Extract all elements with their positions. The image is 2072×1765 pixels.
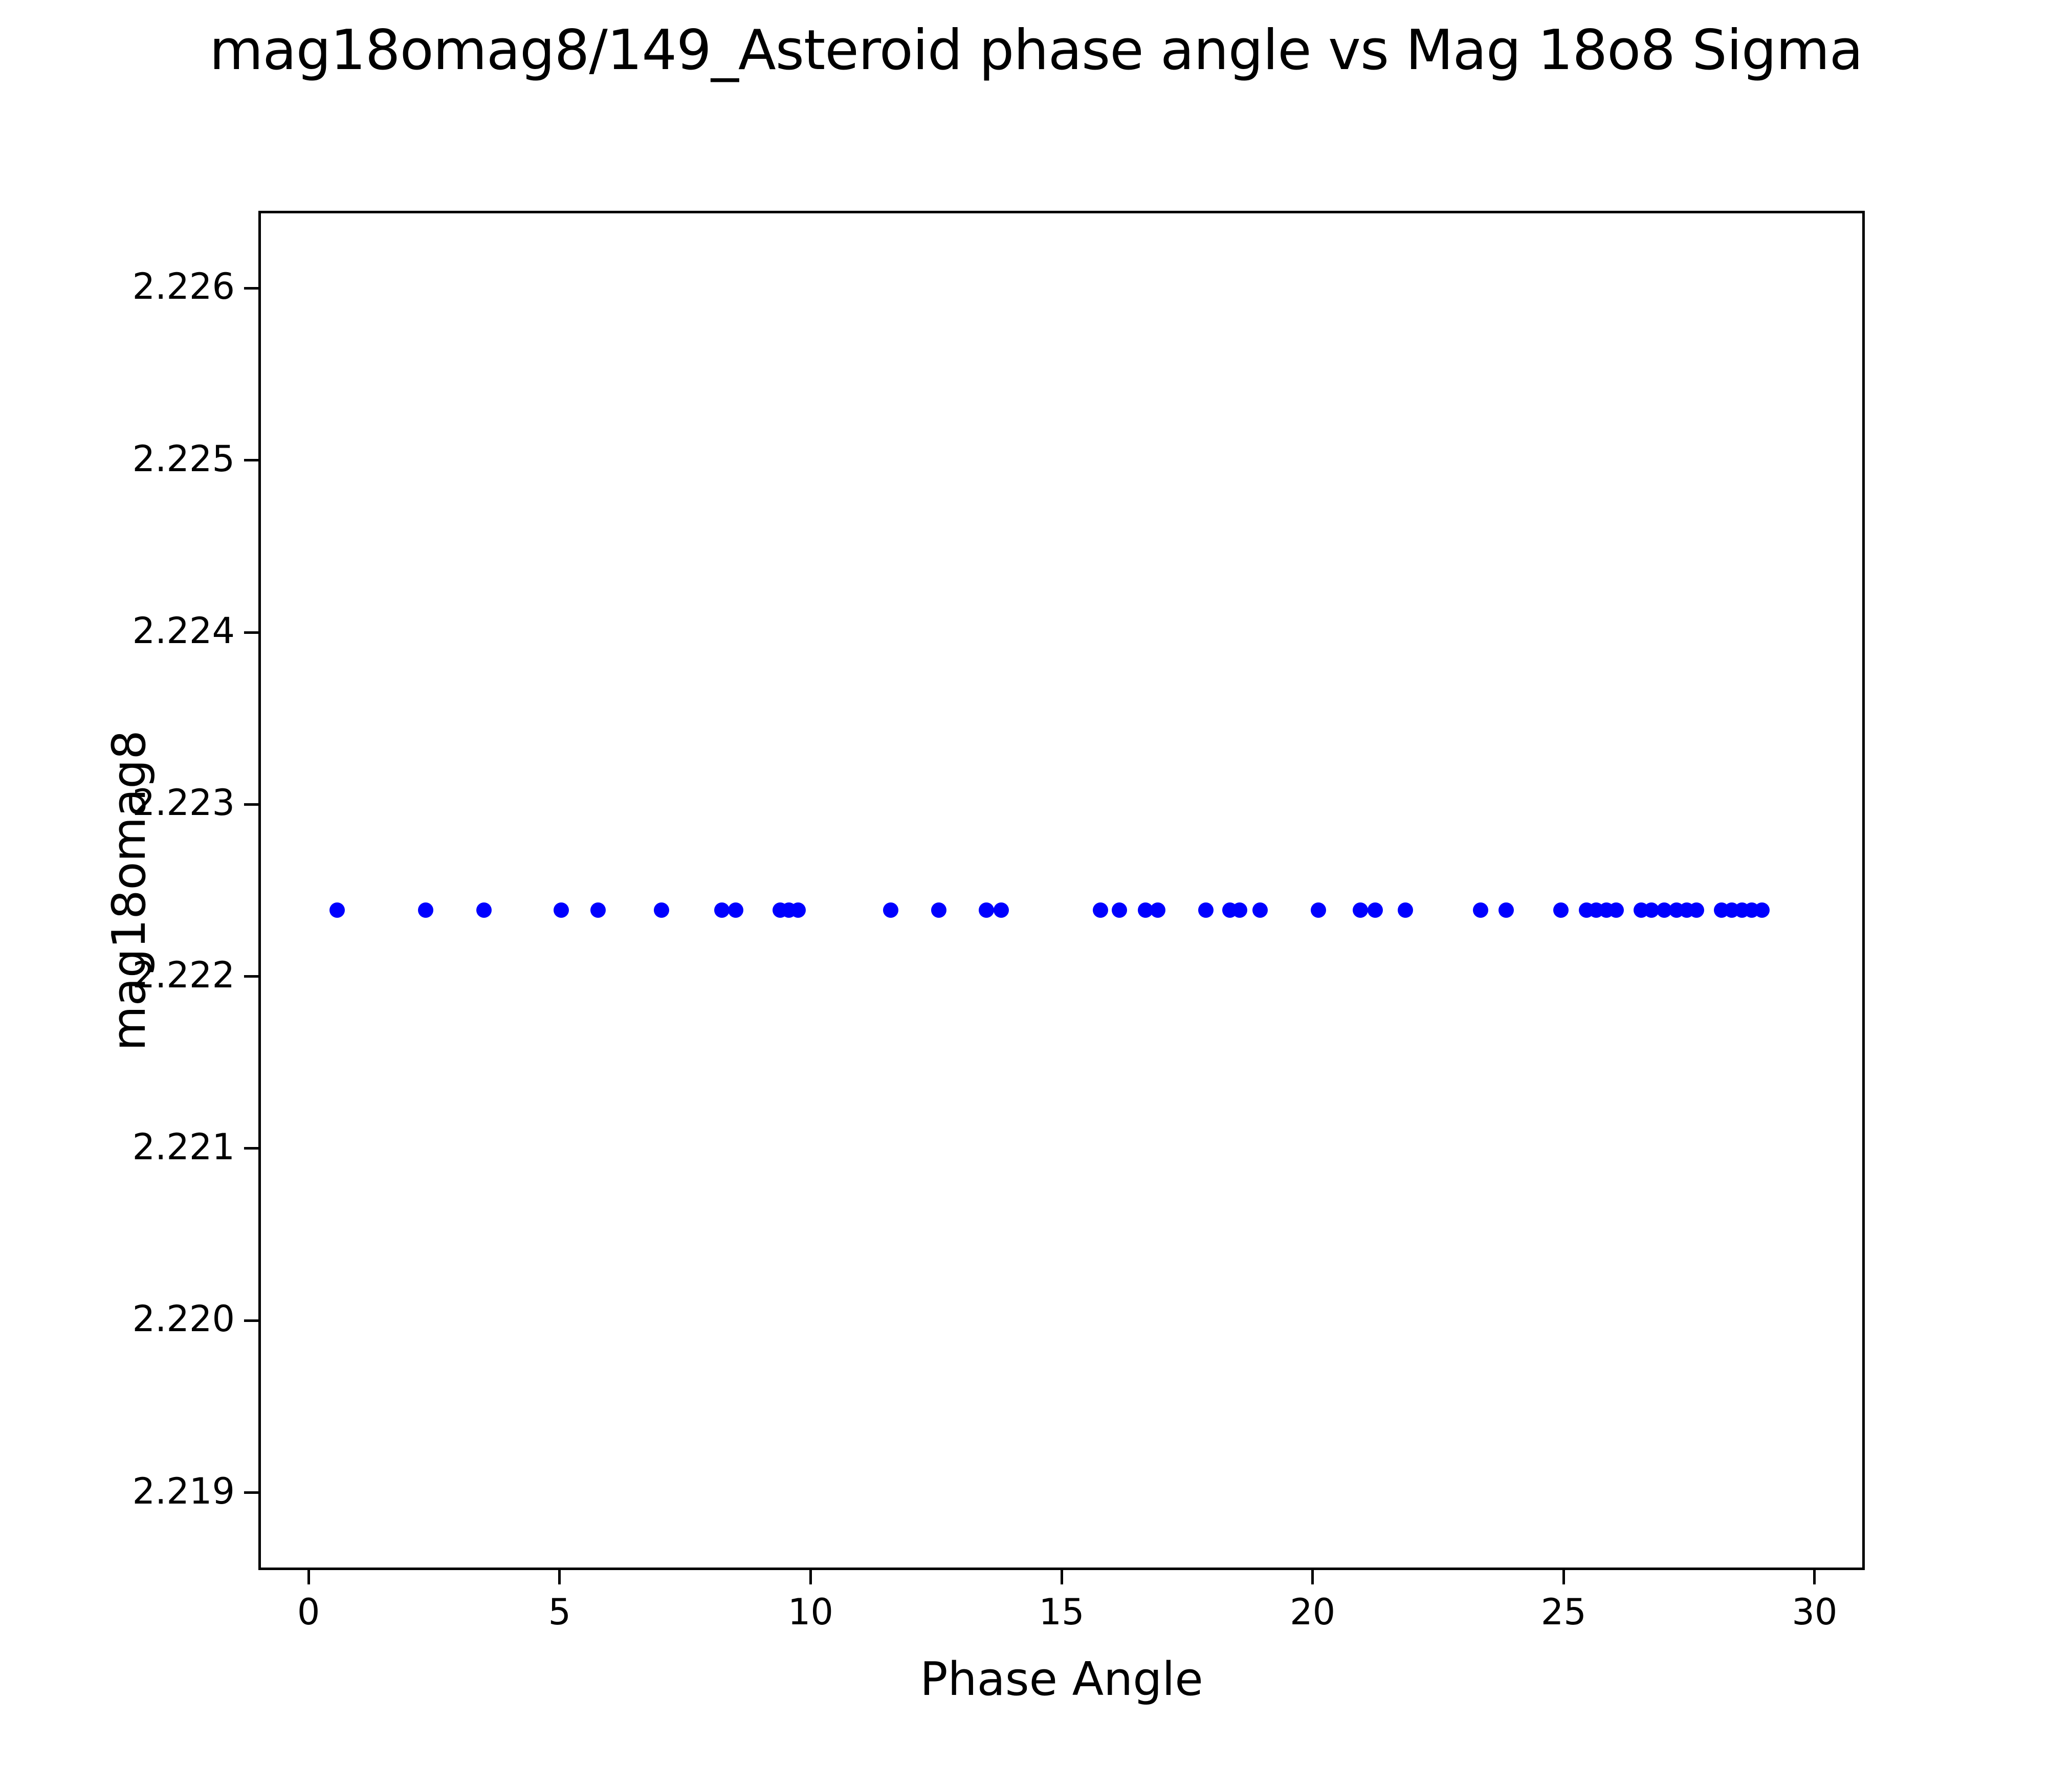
x-tick-label: 10 [788, 1591, 833, 1633]
y-tick-label: 2.226 [133, 266, 235, 307]
scatter-point [931, 902, 946, 918]
scatter-points-layer [261, 213, 1862, 1568]
y-tick-mark [244, 975, 258, 978]
scatter-point [1353, 902, 1368, 918]
scatter-point [1498, 902, 1514, 918]
scatter-point [1311, 902, 1326, 918]
scatter-point [329, 902, 345, 918]
y-tick-mark [244, 803, 258, 806]
scatter-point [1232, 902, 1247, 918]
scatter-point [1150, 902, 1165, 918]
x-axis-label: Phase Angle [258, 1652, 1865, 1706]
y-tick-mark [244, 631, 258, 634]
scatter-point [994, 902, 1009, 918]
x-tick-label: 5 [548, 1591, 571, 1633]
scatter-point [979, 902, 994, 918]
x-tick-mark [809, 1570, 812, 1584]
x-tick-mark [558, 1570, 561, 1584]
y-tick-label: 2.225 [133, 438, 235, 480]
x-tick-label: 15 [1039, 1591, 1084, 1633]
scatter-point [554, 902, 569, 918]
x-tick-mark [1311, 1570, 1314, 1584]
y-tick-label: 2.219 [133, 1470, 235, 1512]
x-tick-label: 30 [1792, 1591, 1837, 1633]
scatter-point [590, 902, 606, 918]
y-tick-mark [244, 1319, 258, 1322]
y-tick-mark [244, 459, 258, 461]
y-tick-mark [244, 1491, 258, 1494]
scatter-point [1689, 902, 1704, 918]
scatter-point [1198, 902, 1214, 918]
y-axis-label: mag18omag8 [102, 730, 156, 1051]
y-tick-label: 2.222 [133, 954, 235, 996]
scatter-point [1754, 902, 1770, 918]
x-tick-mark [1813, 1570, 1816, 1584]
scatter-point [1252, 902, 1268, 918]
scatter-point [883, 902, 898, 918]
y-tick-label: 2.220 [133, 1298, 235, 1340]
x-tick-mark [307, 1570, 310, 1584]
scatter-point [1368, 902, 1383, 918]
scatter-point [1112, 902, 1127, 918]
y-tick-mark [244, 1147, 258, 1150]
scatter-point [1608, 902, 1624, 918]
x-tick-mark [1562, 1570, 1565, 1584]
scatter-point [790, 902, 806, 918]
scatter-point [654, 902, 669, 918]
scatter-point [1473, 902, 1488, 918]
y-tick-label: 2.223 [133, 782, 235, 824]
x-tick-label: 25 [1541, 1591, 1586, 1633]
scatter-point [418, 902, 433, 918]
x-tick-mark [1061, 1570, 1063, 1584]
x-tick-label: 0 [297, 1591, 320, 1633]
y-tick-label: 2.224 [133, 610, 235, 652]
chart-title: mag18omag8/149_Asteroid phase angle vs M… [0, 18, 2072, 82]
scatter-point [1093, 902, 1108, 918]
scatter-point [476, 902, 492, 918]
plot-area [258, 211, 1865, 1570]
scatter-point [1553, 902, 1569, 918]
x-tick-label: 20 [1290, 1591, 1335, 1633]
scatter-point [728, 902, 743, 918]
y-tick-mark [244, 287, 258, 290]
scatter-point [714, 902, 730, 918]
scatter-point [1398, 902, 1413, 918]
y-tick-label: 2.221 [133, 1126, 235, 1168]
